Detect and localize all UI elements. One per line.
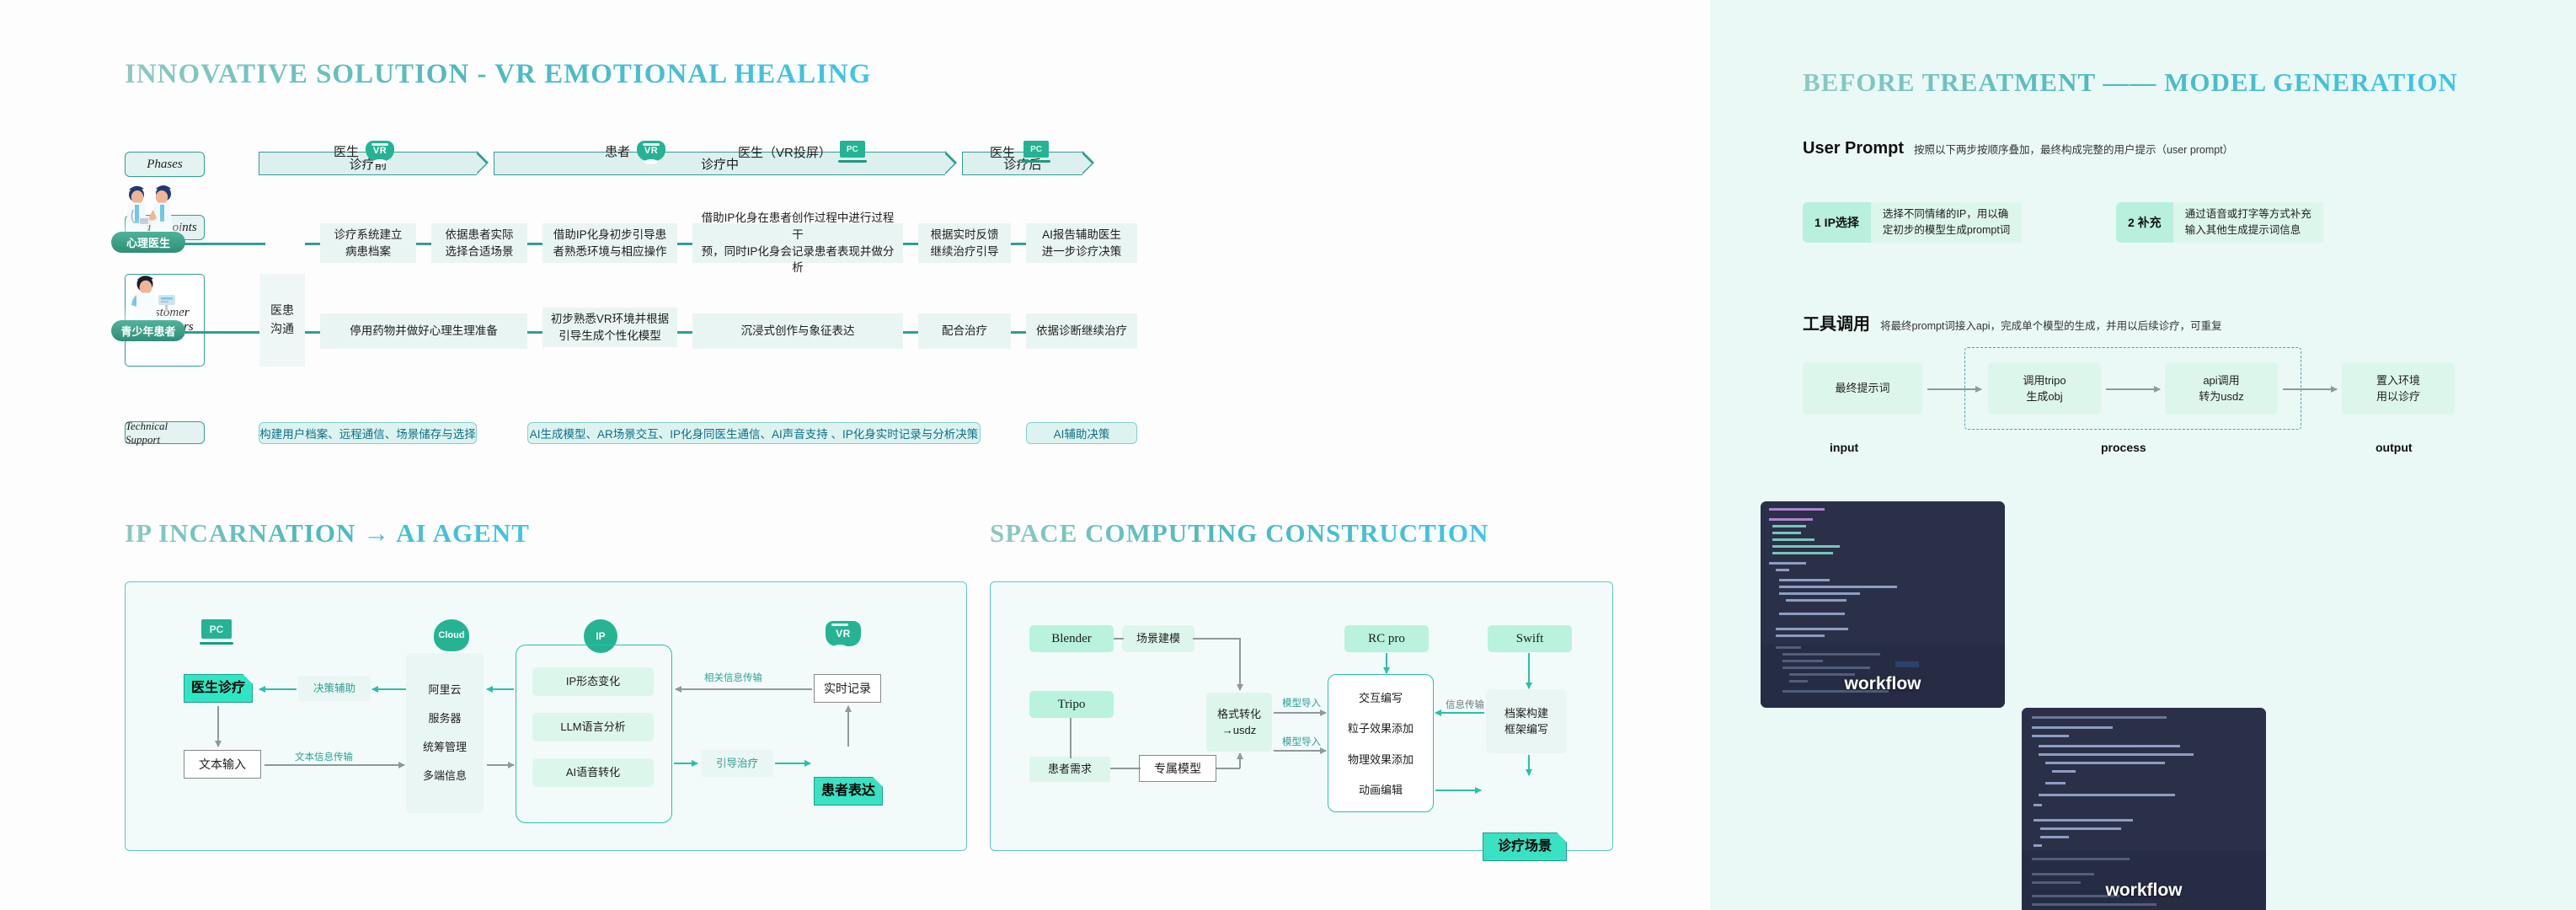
- touchpoint-1-actor: 患者: [605, 142, 630, 160]
- behaviour-cell: 依据诊断继续治疗: [1026, 313, 1137, 349]
- vr-icon: VR: [366, 141, 394, 161]
- node-guide-treatment: 引导治疗: [701, 750, 773, 777]
- step-1-text: 通过语音或打字等方式补充输入其他生成提示词信息: [2173, 202, 2323, 243]
- technical-support-2: AI辅助决策: [1026, 422, 1137, 444]
- arrow: [487, 764, 514, 766]
- pc-icon-base: [1022, 160, 1050, 163]
- behaviour-cell: 停用药物并做好心理生理准备: [320, 313, 527, 349]
- connector: [1216, 768, 1240, 769]
- connector: [416, 243, 431, 245]
- arrow: [1386, 653, 1387, 673]
- phase-1: 诊疗中: [494, 152, 945, 175]
- node-rc-pro: RC pro: [1344, 625, 1429, 652]
- label-text-transfer: 文本信息传输: [295, 750, 353, 763]
- connector: [1193, 638, 1240, 640]
- touchpoint-2: 医生（VR投屏） PC: [738, 141, 867, 163]
- space-center-item: 粒子效果添加: [1348, 720, 1414, 736]
- arrow: [1528, 653, 1530, 688]
- pc-icon: PC: [838, 141, 867, 163]
- step-1-number: 2 补充: [2116, 202, 2173, 243]
- arrow: [217, 706, 219, 747]
- connector: [527, 331, 542, 334]
- connector: [1110, 768, 1141, 769]
- touchpoint-0-actor: 医生: [334, 142, 359, 160]
- behaviour-cell: 诊疗系统建立病患档案: [320, 223, 416, 263]
- behaviour-cell: 根据实时反馈继续治疗引导: [918, 223, 1011, 263]
- technical-support-0: 构建用户档案、远程通信、场景储存与选择: [259, 422, 477, 444]
- tool-call-heading-row: 工具调用 将最终prompt词接入api，完成单个模型的生成，并用以后续诊疗，可…: [1803, 310, 2222, 335]
- connector: [1011, 243, 1026, 245]
- node-archive-build: 档案构建框架编写: [1486, 689, 1567, 753]
- node-text-input: 文本输入: [184, 750, 261, 779]
- arrow: [1274, 750, 1326, 752]
- node-realtime-record: 实时记录: [814, 674, 881, 703]
- node-decision-assist: 决策辅助: [298, 676, 371, 701]
- connector: [305, 331, 320, 334]
- node-blender: Blender: [1029, 625, 1114, 652]
- pc-icon-label: PC: [201, 619, 232, 639]
- tool-node-0: 最终提示词: [1803, 362, 1922, 415]
- code-screenshot: [2022, 708, 2266, 910]
- arrow: [676, 688, 812, 690]
- behaviour-cell: 沉浸式创作与象征表达: [692, 313, 903, 349]
- label-model-import-2: 模型导入: [1282, 735, 1321, 748]
- arrow: [259, 688, 297, 690]
- pc-icon: PC: [1022, 141, 1050, 163]
- stage-label-input: input: [1830, 441, 1858, 454]
- arrow: [372, 688, 406, 690]
- tool-node-2: api调用转为usdz: [2165, 362, 2278, 415]
- persona-doctor: 心理医生: [115, 181, 182, 247]
- technical-support-1: AI生成模型、AR场景交互、IP化身同医生通信、AI声音支持 、IP化身实时记录…: [527, 422, 981, 444]
- connector: [677, 243, 692, 245]
- arrow: [1435, 790, 1481, 791]
- pc-icon-base: [838, 160, 867, 163]
- left-panel: INNOVATIVE SOLUTION - VR EMOTIONAL HEALI…: [0, 0, 1710, 910]
- label-model-import-1: 模型导入: [1282, 696, 1321, 709]
- arrow: [1239, 753, 1241, 768]
- thumbnail-caption: workflow: [1761, 674, 2005, 694]
- behaviour-cell: 借助IP化身在患者创作过程中进行过程干预，同时IP化身会记录患者表现并做分析: [692, 223, 903, 263]
- space-center-item: 动画编辑: [1359, 781, 1403, 797]
- node-ip-morph: IP形态变化: [532, 667, 654, 696]
- user-prompt-step-1: 2 补充 通过语音或打字等方式补充输入其他生成提示词信息: [2116, 202, 2402, 243]
- right-page-title: BEFORE TREATMENT —— MODEL GENERATION: [1803, 67, 2458, 98]
- node-swift: Swift: [1488, 625, 1572, 652]
- arrow: [1927, 388, 1981, 390]
- step-0-number: 1 IP选择: [1803, 202, 1871, 243]
- node-treatment-scene: 诊疗场景: [1483, 832, 1567, 861]
- touchpoint-3-actor: 医生: [990, 143, 1015, 161]
- user-prompt-heading-row: User Prompt 按照以下两步按顺序叠加，最终构成完整的用户提示（user…: [1803, 139, 2233, 158]
- label-related-transfer: 相关信息传输: [704, 671, 762, 684]
- behaviour-cell: 借助IP化身初步引导患者熟悉环境与相应操作: [542, 223, 677, 263]
- thumbnail-workflow-0[interactable]: workflow: [1761, 501, 2005, 708]
- arrow: [674, 763, 697, 764]
- connector: [1070, 718, 1072, 758]
- communication-column: 医患 沟通: [259, 274, 305, 367]
- node-doctor-diagnosis: 医生诊疗: [184, 674, 253, 703]
- thumbnail-workflow-1[interactable]: workflow: [2022, 708, 2266, 910]
- node-patient-need: 患者需求: [1029, 757, 1110, 782]
- space-center-group: 交互编写粒子效果添加物理效果添加动画编辑: [1328, 674, 1434, 812]
- persona-doctor-label: 心理医生: [111, 232, 185, 253]
- node-llm-analysis: LLM语言分析: [532, 713, 654, 741]
- behaviour-cell: AI报告辅助医生进一步诊疗决策: [1026, 223, 1137, 263]
- ip-icon-cloud: Cloud: [434, 619, 469, 651]
- user-prompt-sub: 按照以下两步按顺序叠加，最终构成完整的用户提示（user prompt）: [1914, 141, 2233, 157]
- behaviour-cell: 依据患者实际选择合适场景: [431, 223, 527, 263]
- cloud-icon: Cloud: [434, 619, 469, 651]
- behaviour-cell: 初步熟悉VR环境并根据引导生成个性化模型: [542, 308, 677, 347]
- persona-patient: 青少年患者: [115, 270, 182, 335]
- node-exclusive-model: 专属模型: [1139, 755, 1216, 782]
- ip-section-title: IP INCARNATION → AI AGENT: [125, 518, 530, 549]
- stage-label-output: output: [2376, 441, 2413, 454]
- vr-icon: VR: [826, 621, 861, 646]
- communication-line1: 医患: [270, 302, 294, 320]
- touchpoint-1: 患者 VR: [605, 141, 665, 161]
- connector: [677, 331, 692, 334]
- node-format-convert: 格式转化→usdz: [1206, 693, 1272, 752]
- arrow: [1274, 712, 1326, 714]
- pc-icon-label: PC: [1023, 141, 1049, 158]
- connector: [205, 243, 265, 245]
- tool-node-1: 调用tripo生成obj: [1988, 362, 2101, 415]
- tool-call-sub: 将最终prompt词接入api，完成单个模型的生成，并用以后续诊疗，可重复: [1880, 317, 2222, 333]
- pc-icon: PC: [200, 619, 233, 645]
- persona-patient-label: 青少年患者: [111, 320, 185, 341]
- arrow: [1528, 755, 1530, 775]
- connector: [903, 331, 918, 334]
- step-0-text: 选择不同情绪的IP，用以确定初步的模型生成prompt词: [1871, 202, 2022, 243]
- vr-icon: VR: [637, 141, 665, 161]
- ip-icon-pc: PC: [200, 619, 233, 645]
- touchpoint-3: 医生 PC: [990, 141, 1050, 163]
- node-tripo: Tripo: [1029, 691, 1114, 718]
- arrow: [487, 688, 514, 690]
- right-panel: BEFORE TREATMENT —— MODEL GENERATION Use…: [1710, 0, 2576, 910]
- pc-icon-base: [200, 642, 233, 645]
- arrow: [2106, 388, 2160, 390]
- communication-line2: 沟通: [270, 320, 294, 339]
- pc-icon-label: PC: [840, 141, 865, 158]
- arrow: [265, 764, 404, 766]
- connector: [205, 331, 265, 334]
- tool-node-3: 置入环境用以诊疗: [2342, 362, 2455, 415]
- behaviour-cell: 配合治疗: [918, 313, 1011, 349]
- connector: [527, 243, 542, 245]
- touchpoint-2-actor: 医生（VR投屏）: [738, 143, 831, 161]
- journey-map: Phases Touch points Customer Behaviours …: [0, 0, 1710, 472]
- tool-call-heading: 工具调用: [1803, 310, 1870, 335]
- label-info-transfer: 信息传输: [1446, 698, 1484, 711]
- user-prompt-step-0: 1 IP选择 选择不同情绪的IP，用以确定初步的模型生成prompt词: [1803, 202, 2098, 243]
- user-prompt-heading: User Prompt: [1803, 139, 1904, 158]
- arrow: [1239, 638, 1241, 690]
- stage-label-process: process: [2101, 441, 2146, 454]
- touchpoint-0: 医生 VR: [334, 141, 394, 161]
- space-section-title: SPACE COMPUTING CONSTRUCTION: [990, 518, 1488, 549]
- space-center-item: 交互编写: [1359, 689, 1403, 705]
- node-ai-voice: AI语音转化: [532, 758, 654, 787]
- space-center-item: 物理效果添加: [1348, 751, 1414, 767]
- arrow: [1435, 712, 1484, 714]
- arrow: [775, 763, 810, 764]
- arrow: [2283, 388, 2337, 390]
- connector: [903, 243, 918, 245]
- arrow: [847, 706, 849, 747]
- connector: [1011, 331, 1026, 334]
- row-label-phases: Phases: [125, 152, 205, 177]
- node-aliyun: 阿里云服务器统筹管理多端信息: [406, 653, 484, 813]
- slide-root: INNOVATIVE SOLUTION - VR EMOTIONAL HEALI…: [0, 0, 2576, 910]
- connector: [1114, 638, 1124, 640]
- row-label-technical-support: Technical Support: [125, 421, 205, 444]
- node-patient-express: 患者表达: [814, 777, 883, 806]
- ip-icon-vr: VR: [826, 621, 861, 646]
- connector: [305, 243, 320, 245]
- node-scene-modeling: 场景建模: [1122, 625, 1194, 652]
- thumbnail-caption: workflow: [2022, 881, 2266, 901]
